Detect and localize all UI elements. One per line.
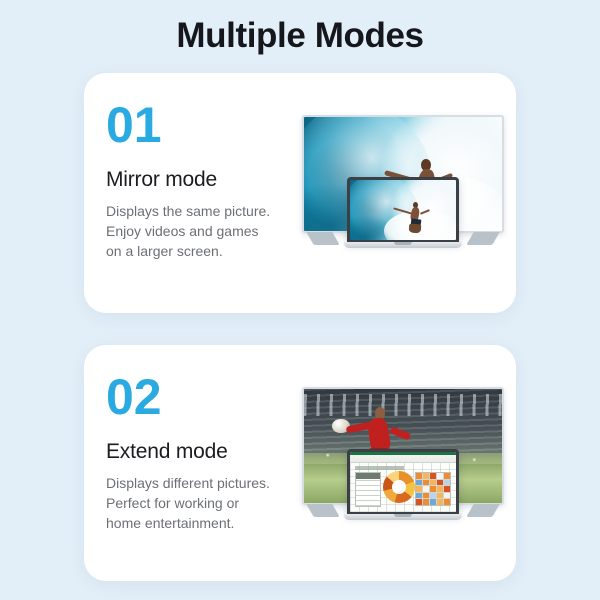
heatmap-cell xyxy=(444,493,450,498)
donut-chart xyxy=(383,471,415,503)
mode-card-mirror: 01 Mirror mode Displays the same picture… xyxy=(84,73,516,313)
card-desc-line: Enjoy videos and games xyxy=(106,221,296,241)
card-desc-line: Perfect for working or xyxy=(106,493,296,513)
laptop xyxy=(344,177,462,253)
player-jersey xyxy=(367,417,392,452)
television-leg-left xyxy=(306,232,340,245)
heatmap-cell xyxy=(437,493,443,498)
card-desc-line: home entertainment. xyxy=(106,513,296,533)
television-leg-right xyxy=(466,504,500,517)
card-heading-mirror-mode: Mirror mode xyxy=(106,167,296,193)
mirrored-surf-scene xyxy=(350,180,456,240)
card-number-02: 02 xyxy=(106,371,296,423)
card-text-block: 01 Mirror mode Displays the same picture… xyxy=(106,99,296,261)
heatmap-cell xyxy=(416,493,422,498)
heatmap-cell xyxy=(416,499,422,504)
heatmap-cell xyxy=(423,480,429,485)
heatmap-cell xyxy=(430,480,436,485)
page-title: Multiple Modes xyxy=(0,14,600,58)
card-desc-line: Displays the same picture. xyxy=(106,201,296,221)
laptop-notch xyxy=(394,514,412,517)
laptop-screen xyxy=(350,452,456,512)
heatmap-cell xyxy=(430,493,436,498)
heatmap-cell xyxy=(430,499,436,504)
spreadsheet-data-table xyxy=(355,472,380,506)
spreadsheet-titlebar xyxy=(350,452,456,455)
heatmap-cell xyxy=(423,493,429,498)
mode-card-extend: 02 Extend mode Displays different pictur… xyxy=(84,345,516,581)
heatmap-cell xyxy=(416,480,422,485)
spreadsheet-ribbon xyxy=(350,452,456,463)
laptop xyxy=(344,449,462,525)
card-desc-line: Displays different pictures. xyxy=(106,473,296,493)
laptop-lid xyxy=(347,449,459,515)
heatmap-cell xyxy=(423,473,429,478)
heatmap-cell xyxy=(430,473,436,478)
heatmap-cell xyxy=(423,499,429,504)
heatmap-cell xyxy=(423,486,429,491)
card-desc-line: on a larger screen. xyxy=(106,241,296,261)
heatmap-cell xyxy=(416,473,422,478)
heatmap-cell xyxy=(416,486,422,491)
card-description-extend-mode: Displays different pictures. Perfect for… xyxy=(106,473,296,533)
illustration-extend-mode xyxy=(292,373,514,548)
surfer-legs xyxy=(409,224,422,234)
heatmap-cell xyxy=(437,499,443,504)
laptop-lid xyxy=(347,177,459,243)
heatmap-cell xyxy=(444,480,450,485)
illustration-mirror-mode xyxy=(292,101,514,276)
card-heading-extend-mode: Extend mode xyxy=(106,439,296,465)
laptop-notch xyxy=(394,242,412,245)
heatmap-grid xyxy=(415,472,451,505)
card-description-mirror-mode: Displays the same picture. Enjoy videos … xyxy=(106,201,296,261)
surfer-figure xyxy=(405,202,426,233)
card-number-01: 01 xyxy=(106,99,296,151)
television-leg-right xyxy=(466,232,500,245)
heatmap-cell xyxy=(437,480,443,485)
spreadsheet-dashboard xyxy=(350,452,456,512)
heatmap-cell xyxy=(437,473,443,478)
spreadsheet-section-title xyxy=(355,466,404,470)
card-text-block: 02 Extend mode Displays different pictur… xyxy=(106,371,296,533)
heatmap-cell xyxy=(444,486,450,491)
heatmap-cell xyxy=(444,499,450,504)
heatmap-cell xyxy=(437,486,443,491)
heatmap-cell xyxy=(430,486,436,491)
laptop-screen xyxy=(350,180,456,240)
spreadsheet-table-header xyxy=(356,473,379,478)
television-leg-left xyxy=(306,504,340,517)
heatmap-cell xyxy=(444,473,450,478)
